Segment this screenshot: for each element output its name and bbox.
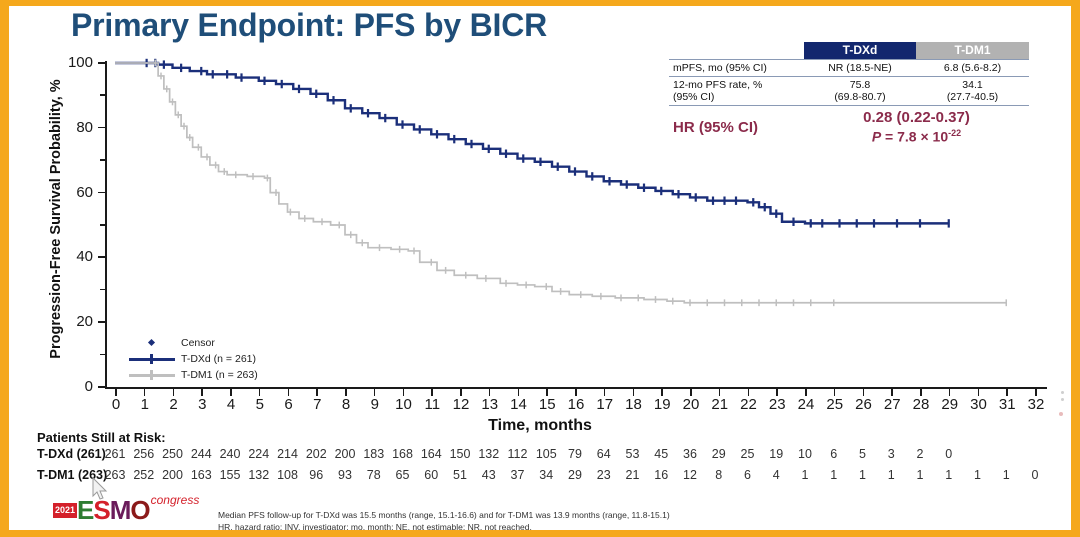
x-axis-tick (115, 389, 117, 396)
logo-congress-text: congress (151, 493, 200, 507)
legend-item-tdxd: T-DXd (n = 261) (129, 351, 258, 367)
risk-count: 155 (220, 468, 241, 482)
x-axis-tick (690, 389, 692, 396)
logo-letter-m: M (110, 497, 131, 523)
p-symbol: P (872, 128, 881, 144)
legend-label-censor: Censor (181, 337, 215, 349)
risk-count: 0 (945, 447, 952, 461)
risk-count: 132 (248, 468, 269, 482)
risk-count: 200 (162, 468, 183, 482)
cell-12mo-tdxd-value: 75.8 (804, 79, 916, 91)
x-axis-label: 16 (568, 396, 585, 413)
x-axis-label: 32 (1028, 396, 1045, 413)
x-axis-label: 9 (371, 396, 379, 413)
x-axis-label: 25 (826, 396, 843, 413)
legend-item-tdm1: T-DM1 (n = 263) (129, 367, 258, 383)
x-axis-tick (230, 389, 232, 396)
x-axis-label: 27 (884, 396, 901, 413)
x-axis-tick (604, 389, 606, 396)
table-row-hazard-ratio: HR (95% CI) 0.28 (0.22-0.37) P = 7.8 × 1… (669, 105, 1029, 146)
x-axis-label: 6 (284, 396, 292, 413)
x-axis-label: 20 (683, 396, 700, 413)
x-axis-tick (460, 389, 462, 396)
results-table: T-DXd T-DM1 mPFS, mo (95% CI) NR (18.5-N… (669, 42, 1029, 146)
x-axis-label: 12 (453, 396, 470, 413)
x-axis-tick (1006, 389, 1008, 396)
risk-count: 51 (453, 468, 467, 482)
x-axis-tick (978, 389, 980, 396)
x-axis-tick (403, 389, 405, 396)
risk-count: 43 (482, 468, 496, 482)
y-axis-tick-minor (100, 159, 106, 161)
cell-mpfs-tdxd: NR (18.5-NE) (804, 60, 916, 76)
x-axis-label: 0 (112, 396, 120, 413)
x-axis-tick (316, 389, 318, 396)
legend-line-tdxd (129, 353, 175, 365)
x-axis-label: 13 (481, 396, 498, 413)
x-axis-label: 30 (970, 396, 987, 413)
risk-count: 12 (683, 468, 697, 482)
slide-title: Primary Endpoint: PFS by BICR (71, 7, 547, 44)
risk-count: 5 (859, 447, 866, 461)
risk-count: 60 (424, 468, 438, 482)
risk-count: 132 (478, 447, 499, 461)
edge-artifact-3 (1059, 412, 1063, 416)
x-axis-label: 10 (395, 396, 412, 413)
y-axis-tick (98, 62, 106, 64)
hr-values: 0.28 (0.22-0.37) P = 7.8 × 10-22 (804, 109, 1029, 146)
legend-label-tdxd: T-DXd (n = 261) (181, 353, 256, 365)
cell-12mo-tdxd: 75.8 (69.8-80.7) (804, 77, 916, 105)
chart-legend: Censor T-DXd (n = 261) T-DM1 (n = 263) (129, 335, 258, 383)
cell-12mo-tdm1-value: 34.1 (916, 79, 1029, 91)
x-axis-tick (661, 389, 663, 396)
risk-count: 16 (654, 468, 668, 482)
y-axis-tick-minor (100, 354, 106, 356)
y-axis-tick-minor (100, 224, 106, 226)
risk-count: 250 (162, 447, 183, 461)
risk-count: 25 (741, 447, 755, 461)
x-axis-tick (891, 389, 893, 396)
logo-year: 2021 (53, 503, 77, 518)
x-axis-label: 21 (711, 396, 728, 413)
multiply-icon: × (920, 128, 928, 144)
header-cell-tdxd: T-DXd (804, 42, 916, 59)
risk-count: 1 (945, 468, 952, 482)
risk-count: 65 (396, 468, 410, 482)
y-axis-tick (98, 321, 106, 323)
x-axis-label: 14 (510, 396, 527, 413)
x-axis-label: 7 (313, 396, 321, 413)
x-axis-label: 28 (913, 396, 930, 413)
x-axis-label: 23 (769, 396, 786, 413)
risk-count: 214 (277, 447, 298, 461)
risk-label-tdxd: T-DXd (261) (37, 447, 106, 461)
risk-count: 96 (309, 468, 323, 482)
legend-item-censor: Censor (129, 335, 258, 351)
y-axis-tick (98, 192, 106, 194)
risk-count: 244 (191, 447, 212, 461)
footnote-median-followup: Median PFS follow-up for T-DXd was 15.5 … (218, 509, 670, 521)
risk-count: 1 (917, 468, 924, 482)
risk-count: 164 (421, 447, 442, 461)
hr-value: 0.28 (0.22-0.37) (804, 109, 1029, 128)
risk-count: 19 (769, 447, 783, 461)
x-axis-tick (863, 389, 865, 396)
x-axis-tick (546, 389, 548, 396)
x-axis-tick (834, 389, 836, 396)
risk-count: 0 (1032, 468, 1039, 482)
x-axis-label: 22 (740, 396, 757, 413)
p-base: 10 (929, 128, 948, 144)
risk-count: 23 (597, 468, 611, 482)
risk-count: 45 (654, 447, 668, 461)
p-equals: = 7.8 (881, 128, 920, 144)
cell-12mo-tdxd-ci: (69.8-80.7) (804, 91, 916, 103)
presentation-slide: Primary Endpoint: PFS by BICR 0204060801… (0, 0, 1080, 537)
row-label-line2: (95% CI) (673, 91, 804, 103)
risk-count: 2 (917, 447, 924, 461)
y-axis-tick (98, 386, 106, 388)
x-axis-label: 31 (999, 396, 1016, 413)
risk-count: 224 (248, 447, 269, 461)
risk-count: 37 (511, 468, 525, 482)
x-axis-tick (173, 389, 175, 396)
x-axis-tick (920, 389, 922, 396)
risk-count: 36 (683, 447, 697, 461)
risk-count: 1 (888, 468, 895, 482)
x-axis-tick (259, 389, 261, 396)
x-axis-label: 5 (256, 396, 264, 413)
risk-count: 261 (105, 447, 126, 461)
risk-count: 4 (773, 468, 780, 482)
risk-count: 6 (830, 447, 837, 461)
x-axis-label: 4 (227, 396, 235, 413)
x-axis-label: 1 (141, 396, 149, 413)
x-axis-tick (345, 389, 347, 396)
risk-count: 168 (392, 447, 413, 461)
x-axis-label: 2 (169, 396, 177, 413)
x-axis-label: 17 (596, 396, 613, 413)
risk-count: 1 (830, 468, 837, 482)
risk-count: 1 (1003, 468, 1010, 482)
x-axis-tick (805, 389, 807, 396)
x-axis-tick (518, 389, 520, 396)
x-axis-label: 19 (654, 396, 671, 413)
risk-count: 78 (367, 468, 381, 482)
x-axis-tick (748, 389, 750, 396)
risk-count: 53 (626, 447, 640, 461)
risk-count: 200 (335, 447, 356, 461)
risk-count: 29 (712, 447, 726, 461)
censor-marker-icon (129, 337, 175, 349)
x-axis-tick (949, 389, 951, 396)
header-cell-tdm1: T-DM1 (916, 42, 1029, 59)
risk-count: 64 (597, 447, 611, 461)
risk-count: 29 (568, 468, 582, 482)
risk-count: 34 (539, 468, 553, 482)
legend-line-tdm1 (129, 369, 175, 381)
x-axis-label: 3 (198, 396, 206, 413)
x-axis-label: 26 (855, 396, 872, 413)
esmo-congress-logo: 2021 E S M O congress (53, 495, 199, 525)
x-axis-tick (776, 389, 778, 396)
risk-count: 183 (363, 447, 384, 461)
risk-count: 10 (798, 447, 812, 461)
p-exponent: -22 (948, 128, 961, 138)
edge-artifact-1 (1061, 391, 1064, 394)
risk-count: 105 (536, 447, 557, 461)
risk-count: 3 (888, 447, 895, 461)
risk-count: 240 (220, 447, 241, 461)
risk-count: 252 (133, 468, 154, 482)
edge-artifact-2 (1061, 398, 1064, 401)
row-label-mpfs: mPFS, mo (95% CI) (669, 60, 804, 76)
footnotes: Median PFS follow-up for T-DXd was 15.5 … (218, 509, 670, 534)
x-axis-tick (374, 389, 376, 396)
x-axis-tick (489, 389, 491, 396)
risk-count: 112 (508, 447, 528, 461)
risk-count: 108 (277, 468, 298, 482)
x-axis-tick (431, 389, 433, 396)
footnote-abbreviations: HR, hazard ratio; INV, investigator; mo,… (218, 521, 670, 533)
row-label-12mo-rate: 12-mo PFS rate, % (95% CI) (669, 77, 804, 105)
table-row-mpfs: mPFS, mo (95% CI) NR (18.5-NE) 6.8 (5.6-… (669, 59, 1029, 76)
risk-count: 21 (626, 468, 640, 482)
x-axis-tick (633, 389, 635, 396)
risk-count: 202 (306, 447, 327, 461)
risk-table-title: Patients Still at Risk: (37, 430, 166, 445)
risk-count: 93 (338, 468, 352, 482)
risk-count: 8 (715, 468, 722, 482)
x-axis-label: 15 (539, 396, 556, 413)
risk-count: 79 (568, 447, 582, 461)
risk-count: 256 (133, 447, 154, 461)
risk-count: 1 (802, 468, 809, 482)
x-axis-tick (144, 389, 146, 396)
risk-count: 6 (744, 468, 751, 482)
x-axis-tick (201, 389, 203, 396)
y-axis-tick (98, 256, 106, 258)
risk-count: 163 (191, 468, 212, 482)
x-axis-label: 11 (424, 396, 440, 413)
p-value: P = 7.8 × 10-22 (804, 128, 1029, 146)
x-axis-label: 29 (941, 396, 958, 413)
x-axis-label: 8 (342, 396, 350, 413)
y-axis-tick (98, 127, 106, 129)
x-axis-tick (719, 389, 721, 396)
x-axis-tick (575, 389, 577, 396)
cell-12mo-tdm1-ci: (27.7-40.5) (916, 91, 1029, 103)
risk-count: 150 (450, 447, 471, 461)
row-label-line1: 12-mo PFS rate, % (673, 79, 804, 91)
y-axis-tick-minor (100, 289, 106, 291)
x-axis-label: 24 (798, 396, 815, 413)
y-axis-title: Progression-Free Survival Probability, % (48, 54, 64, 384)
risk-row-tdxd: T-DXd (261) 2612562502442402242142022001… (37, 447, 166, 468)
hr-label: HR (95% CI) (669, 119, 804, 136)
y-axis-tick-minor (100, 94, 106, 96)
results-table-header: T-DXd T-DM1 (669, 42, 1029, 59)
x-axis-label: 18 (625, 396, 642, 413)
risk-count: 1 (974, 468, 981, 482)
cell-12mo-tdm1: 34.1 (27.7-40.5) (916, 77, 1029, 105)
x-axis-tick (288, 389, 290, 396)
table-row-12mo-rate: 12-mo PFS rate, % (95% CI) 75.8 (69.8-80… (669, 76, 1029, 105)
cell-mpfs-tdm1: 6.8 (5.6-8.2) (916, 60, 1029, 76)
x-axis-tick (1035, 389, 1037, 396)
risk-count: 1 (859, 468, 866, 482)
x-axis-title: Time, months (9, 417, 1071, 435)
legend-label-tdm1: T-DM1 (n = 263) (181, 369, 258, 381)
logo-letter-o: O (130, 497, 149, 523)
mouse-cursor-icon (89, 476, 111, 506)
